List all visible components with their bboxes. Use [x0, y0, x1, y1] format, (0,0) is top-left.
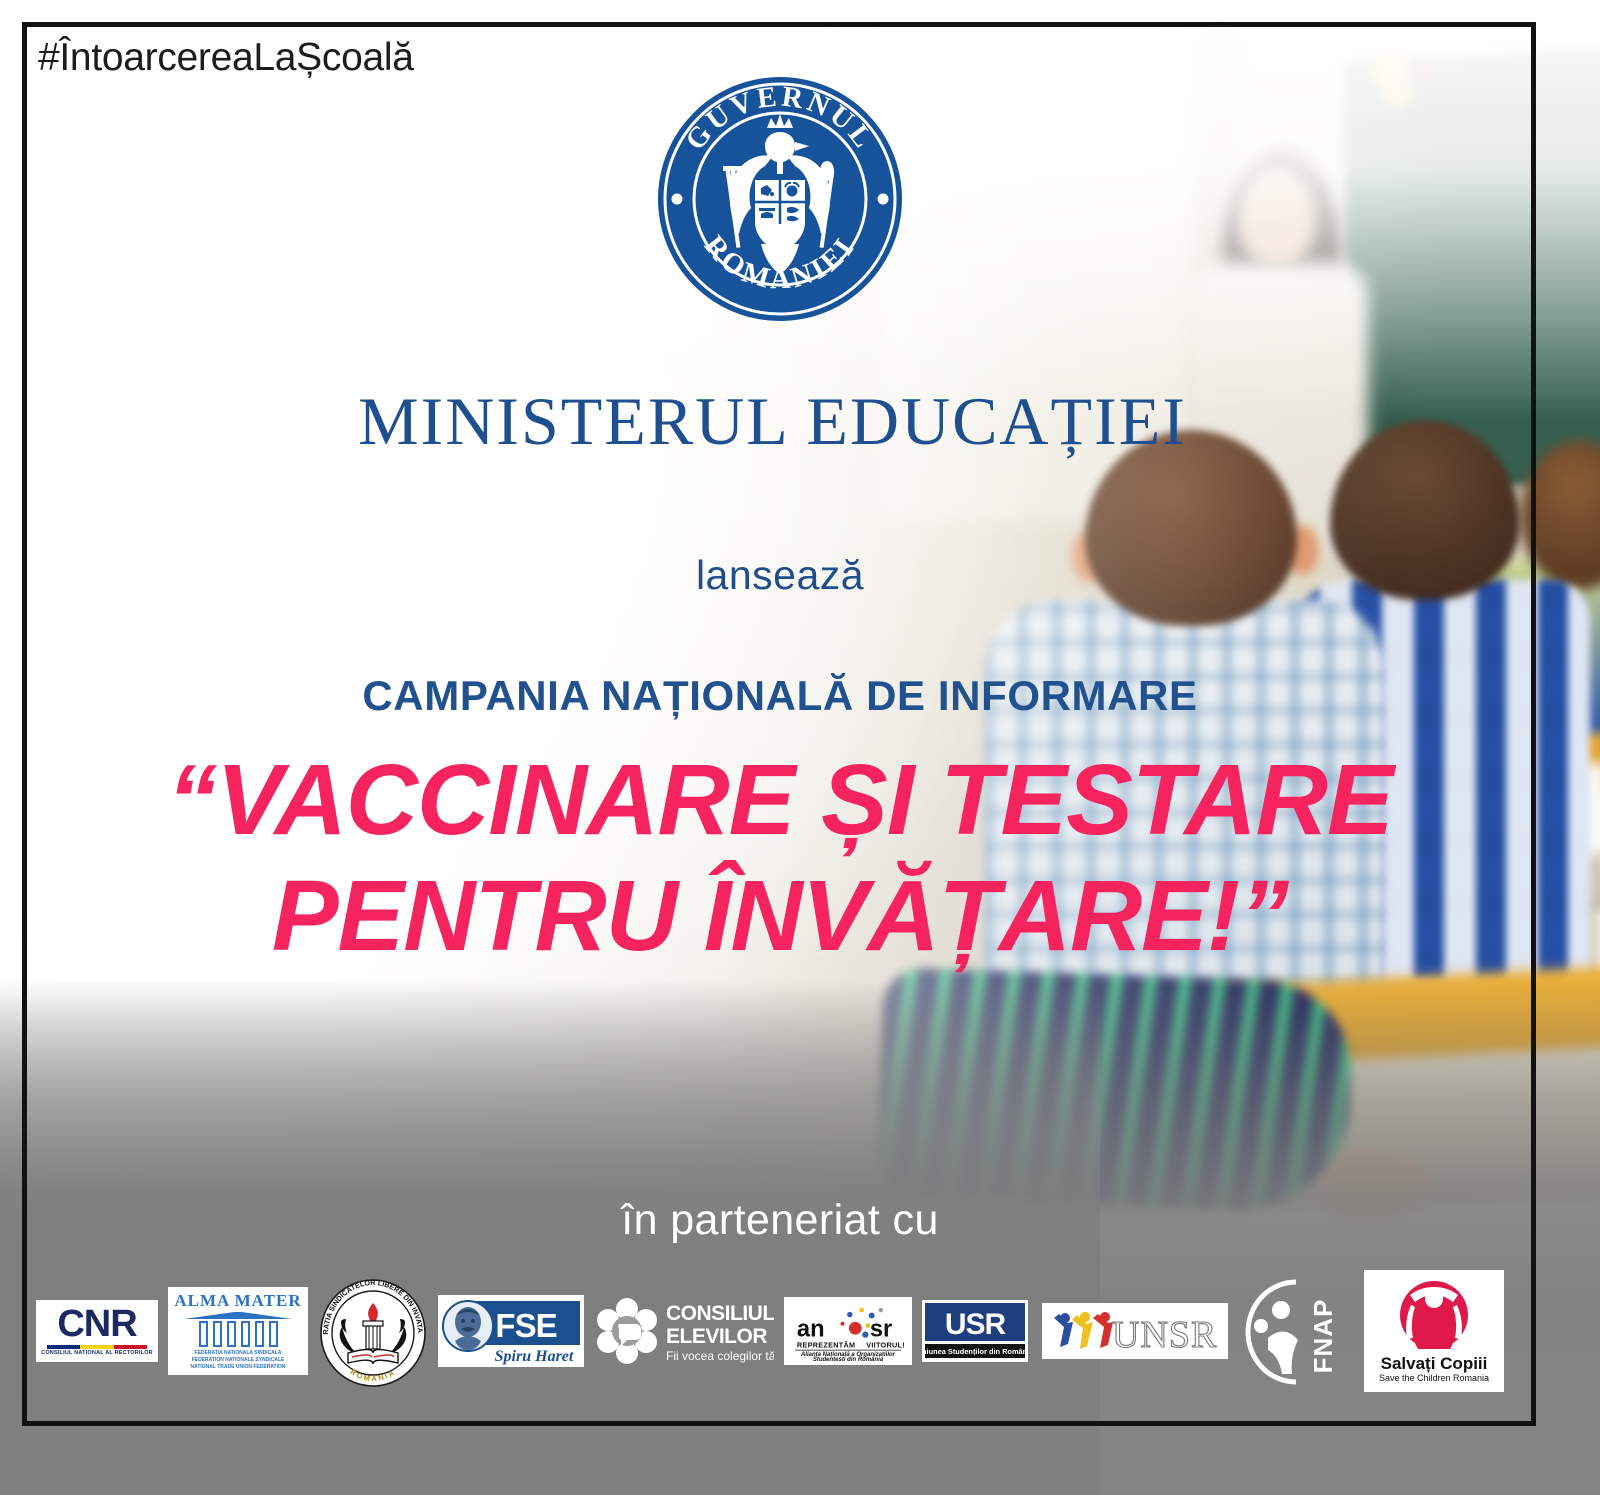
temple-columns-icon	[199, 1321, 278, 1347]
svg-text:UNSR: UNSR	[1112, 1314, 1217, 1356]
svg-text:FNAP: FNAP	[1308, 1298, 1338, 1373]
campaign-kicker: CAMPANIA NAȚIONALĂ DE INFORMARE	[0, 672, 1560, 720]
partnership-label: în parteneriat cu	[0, 1196, 1560, 1245]
alma-sub-ro: FEDERATIA NATIONALA SINDICALA	[191, 1350, 286, 1357]
svg-text:Studențești din România: Studențești din România	[813, 1357, 884, 1362]
cnr-subtitle: CONSILIUL NATIONAL AL RECTORILOR	[41, 1350, 153, 1356]
alma-sub-fr: FEDERATION NATIONALE SYNDICALE	[191, 1357, 286, 1364]
partner-logo-strip: CNR CONSILIUL NATIONAL AL RECTORILOR ALM…	[36, 1268, 1556, 1393]
svg-text:FSE: FSE	[495, 1307, 556, 1344]
partner-logo-usr: USR Uniunea Studenților din România	[922, 1300, 1028, 1362]
cnr-acronym: CNR	[57, 1305, 136, 1343]
headline-line-2: PENTRU ÎNVĂȚARE!”	[0, 858, 1560, 974]
svg-text:Uniunea Studenților din Români: Uniunea Studenților din România	[922, 1347, 1028, 1356]
partner-logo-salvati-copiii: Salvați Copiii Save the Children Romania	[1364, 1270, 1504, 1392]
svg-text:sr: sr	[870, 1316, 892, 1342]
partner-logo-cnr: CNR CONSILIUL NATIONAL AL RECTORILOR	[36, 1300, 158, 1362]
svg-text:ELEVILOR: ELEVILOR	[666, 1325, 767, 1348]
partner-logo-anosr: an sr REPREZENTĂM VIITORUL! Alianța Nați…	[784, 1297, 912, 1365]
headline-line-1: “VACCINARE ȘI TESTARE	[0, 742, 1560, 858]
svg-text:USR: USR	[945, 1308, 1007, 1341]
lanseaza-label: lansează	[0, 552, 1560, 599]
guvernul-romaniei-seal: GUVERNUL ROMÂNIEI	[655, 74, 905, 324]
svg-text:VIITORUL!: VIITORUL!	[866, 1340, 905, 1349]
hashtag-label: #ÎntoarcereaLaȘcoală	[38, 36, 414, 80]
svg-text:an: an	[797, 1316, 825, 1342]
alma-mater-title: ALMA MATER	[174, 1291, 301, 1311]
svg-text:Spiru Haret: Spiru Haret	[495, 1348, 574, 1365]
svg-text:Salvați Copiii: Salvați Copiii	[1381, 1354, 1488, 1373]
temple-roof-icon	[182, 1312, 294, 1320]
partner-logo-fse-spiru-haret: FSE Spiru Haret	[438, 1295, 584, 1367]
romania-flag-bar	[47, 1345, 147, 1349]
svg-text:REPREZENTĂM: REPREZENTĂM	[797, 1340, 855, 1349]
alma-sub-en: NATIONAL TRADE UNION FEDERATION	[191, 1364, 286, 1371]
alma-mater-subtitles: FEDERATIA NATIONALA SINDICALA FEDERATION…	[191, 1350, 286, 1370]
svg-text:Save the Children Romania: Save the Children Romania	[1379, 1373, 1489, 1383]
child-in-circle-icon	[1400, 1281, 1468, 1349]
poster-root: #ÎntoarcereaLaȘcoală GUVERNUL ROMÂNIEI	[0, 0, 1600, 1495]
svg-text:CONSILIUL: CONSILIUL	[666, 1302, 774, 1325]
svg-text:Fii vocea colegilor tăi!: Fii vocea colegilor tăi!	[666, 1349, 774, 1363]
partner-logo-fsli: FEDERATIA SINDICATELOR LIBERE DIN INVATA…	[318, 1275, 428, 1387]
partner-logo-alma-mater: ALMA MATER FEDERATIA NATIONALA SINDICALA…	[168, 1287, 308, 1375]
partner-logo-fnap: FNAP	[1234, 1276, 1354, 1386]
partner-logo-unsr: UNSR	[1038, 1303, 1224, 1359]
ministry-title: MINISTERUL EDUCAȚIEI	[0, 382, 1545, 461]
partner-logo-consiliul-elevilor: CONSILIUL ELEVILOR Fii vocea colegilor t…	[594, 1293, 774, 1369]
campaign-headline: “VACCINARE ȘI TESTARE PENTRU ÎNVĂȚARE!”	[0, 742, 1560, 974]
